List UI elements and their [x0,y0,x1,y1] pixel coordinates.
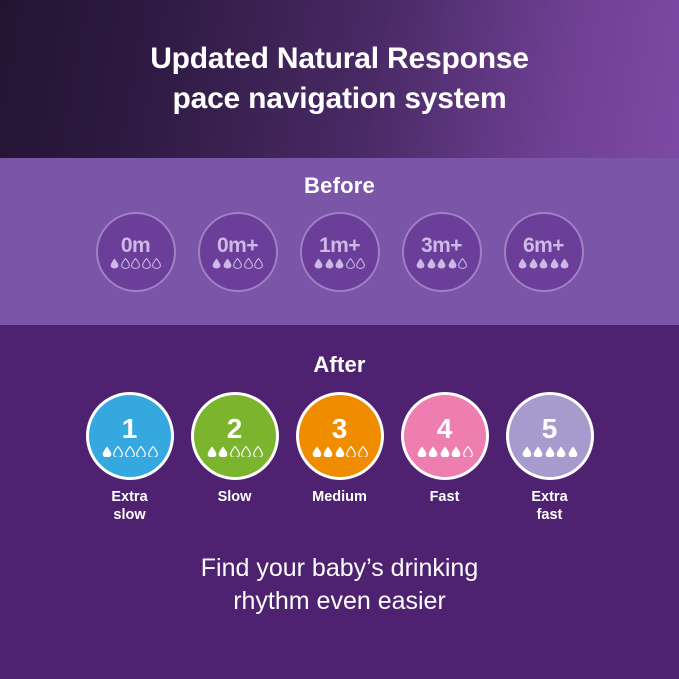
droplet-empty-icon [254,258,263,269]
droplet-empty-icon [458,258,467,269]
after-label-line1: Fast [430,489,460,505]
droplet-filled-icon [325,258,334,269]
header-banner: Updated Natural Response pace navigation… [0,0,679,158]
after-circle-row: 1Extraslow2Slow3Medium4Fast5Extrafast [0,392,679,524]
after-pace-circle: 4 [401,392,489,480]
after-circle-number: 1 [122,415,138,443]
droplet-indicator [102,446,158,458]
droplet-empty-icon [131,258,140,269]
after-label-line2: fast [537,507,563,523]
tagline-line1: Find your baby’s drinking [201,554,478,582]
droplet-filled-icon [110,258,119,269]
droplet-filled-icon [437,258,446,269]
after-pace-item: 5Extrafast [506,392,594,524]
droplet-indicator [207,446,263,458]
after-pace-item: 4Fast [401,392,489,507]
after-circle-label: Extrafast [531,489,567,524]
before-circle-row: 0m0m+1m+3m+6m+ [0,212,679,292]
after-section: After 1Extraslow2Slow3Medium4Fast5Extraf… [0,325,679,679]
after-pace-item: 2Slow [191,392,279,507]
droplet-filled-icon [428,446,438,458]
droplet-filled-icon [560,258,569,269]
after-circle-number: 3 [332,415,348,443]
after-label-line1: Medium [312,489,367,505]
droplet-filled-icon [550,258,559,269]
droplet-filled-icon [335,258,344,269]
before-pace-circle: 3m+ [402,212,482,292]
after-pace-item: 3Medium [296,392,384,507]
droplet-filled-icon [539,258,548,269]
droplet-filled-icon [518,258,527,269]
droplet-filled-icon [427,258,436,269]
after-pace-circle: 1 [86,392,174,480]
before-section: Before 0m0m+1m+3m+6m+ [0,158,679,325]
droplet-indicator [522,446,578,458]
after-pace-item: 1Extraslow [86,392,174,524]
before-circle-label: 1m+ [319,235,360,256]
after-circle-label: Fast [430,489,460,507]
after-pace-circle: 2 [191,392,279,480]
droplet-empty-icon [113,446,123,458]
after-circle-number: 4 [437,415,453,443]
before-circle-label: 0m [121,235,150,256]
droplet-filled-icon [440,446,450,458]
page-title-line1: Updated Natural Response [150,42,529,75]
droplet-filled-icon [207,446,217,458]
droplet-filled-icon [451,446,461,458]
droplet-filled-icon [533,446,543,458]
droplet-filled-icon [522,446,532,458]
after-circle-label: Slow [218,489,252,507]
droplet-empty-icon [346,258,355,269]
droplet-empty-icon [346,446,356,458]
droplet-indicator [416,258,467,269]
droplet-empty-icon [356,258,365,269]
after-label-line1: Slow [218,489,252,505]
droplet-empty-icon [152,258,161,269]
droplet-indicator [518,258,569,269]
after-circle-label: Extraslow [111,489,147,524]
droplet-empty-icon [358,446,368,458]
droplet-filled-icon [568,446,578,458]
droplet-empty-icon [148,446,158,458]
droplet-filled-icon [212,258,221,269]
droplet-filled-icon [314,258,323,269]
droplet-empty-icon [233,258,242,269]
before-pace-circle: 0m [96,212,176,292]
droplet-empty-icon [230,446,240,458]
droplet-indicator [212,258,263,269]
droplet-filled-icon [312,446,322,458]
before-circle-label: 6m+ [523,235,564,256]
before-heading: Before [0,173,679,199]
before-pace-circle: 1m+ [300,212,380,292]
after-label-line2: slow [113,507,145,523]
droplet-indicator [312,446,368,458]
droplet-filled-icon [323,446,333,458]
droplet-empty-icon [244,258,253,269]
tagline: Find your baby’s drinking rhythm even ea… [0,552,679,617]
before-pace-circle: 0m+ [198,212,278,292]
after-pace-circle: 5 [506,392,594,480]
after-circle-number: 5 [542,415,558,443]
droplet-filled-icon [556,446,566,458]
before-circle-label: 0m+ [217,235,258,256]
droplet-empty-icon [136,446,146,458]
tagline-line2: rhythm even easier [60,585,619,618]
droplet-filled-icon [335,446,345,458]
page-title-line2: pace navigation system [150,79,529,119]
droplet-filled-icon [417,446,427,458]
droplet-filled-icon [223,258,232,269]
droplet-indicator [314,258,365,269]
after-pace-circle: 3 [296,392,384,480]
droplet-indicator [417,446,473,458]
before-pace-circle: 6m+ [504,212,584,292]
after-label-line1: Extra [111,489,147,505]
after-heading: After [0,352,679,378]
droplet-empty-icon [253,446,263,458]
before-circle-label: 3m+ [421,235,462,256]
droplet-filled-icon [416,258,425,269]
droplet-filled-icon [545,446,555,458]
droplet-empty-icon [241,446,251,458]
infographic-page: Updated Natural Response pace navigation… [0,0,679,679]
droplet-filled-icon [218,446,228,458]
droplet-empty-icon [121,258,130,269]
droplet-indicator [110,258,161,269]
droplet-filled-icon [448,258,457,269]
page-title: Updated Natural Response pace navigation… [110,39,569,119]
droplet-filled-icon [529,258,538,269]
after-label-line1: Extra [531,489,567,505]
droplet-empty-icon [463,446,473,458]
droplet-filled-icon [102,446,112,458]
droplet-empty-icon [142,258,151,269]
after-circle-label: Medium [312,489,367,507]
after-circle-number: 2 [227,415,243,443]
droplet-empty-icon [125,446,135,458]
